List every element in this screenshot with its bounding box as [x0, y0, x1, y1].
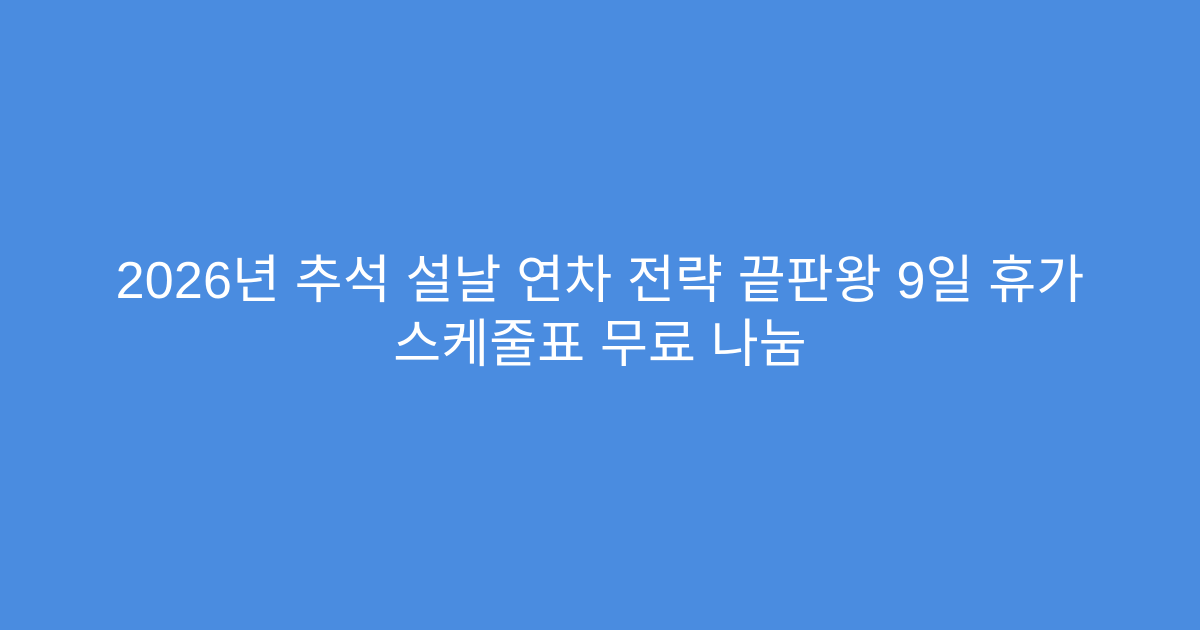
og-thumbnail-card: 2026년 추석 설날 연차 전략 끝판왕 9일 휴가 스케줄표 무료 나눔: [0, 0, 1200, 630]
headline-block: 2026년 추석 설날 연차 전략 끝판왕 9일 휴가 스케줄표 무료 나눔: [100, 249, 1100, 377]
page-title: 2026년 추석 설날 연차 전략 끝판왕 9일 휴가 스케줄표 무료 나눔: [100, 249, 1100, 377]
